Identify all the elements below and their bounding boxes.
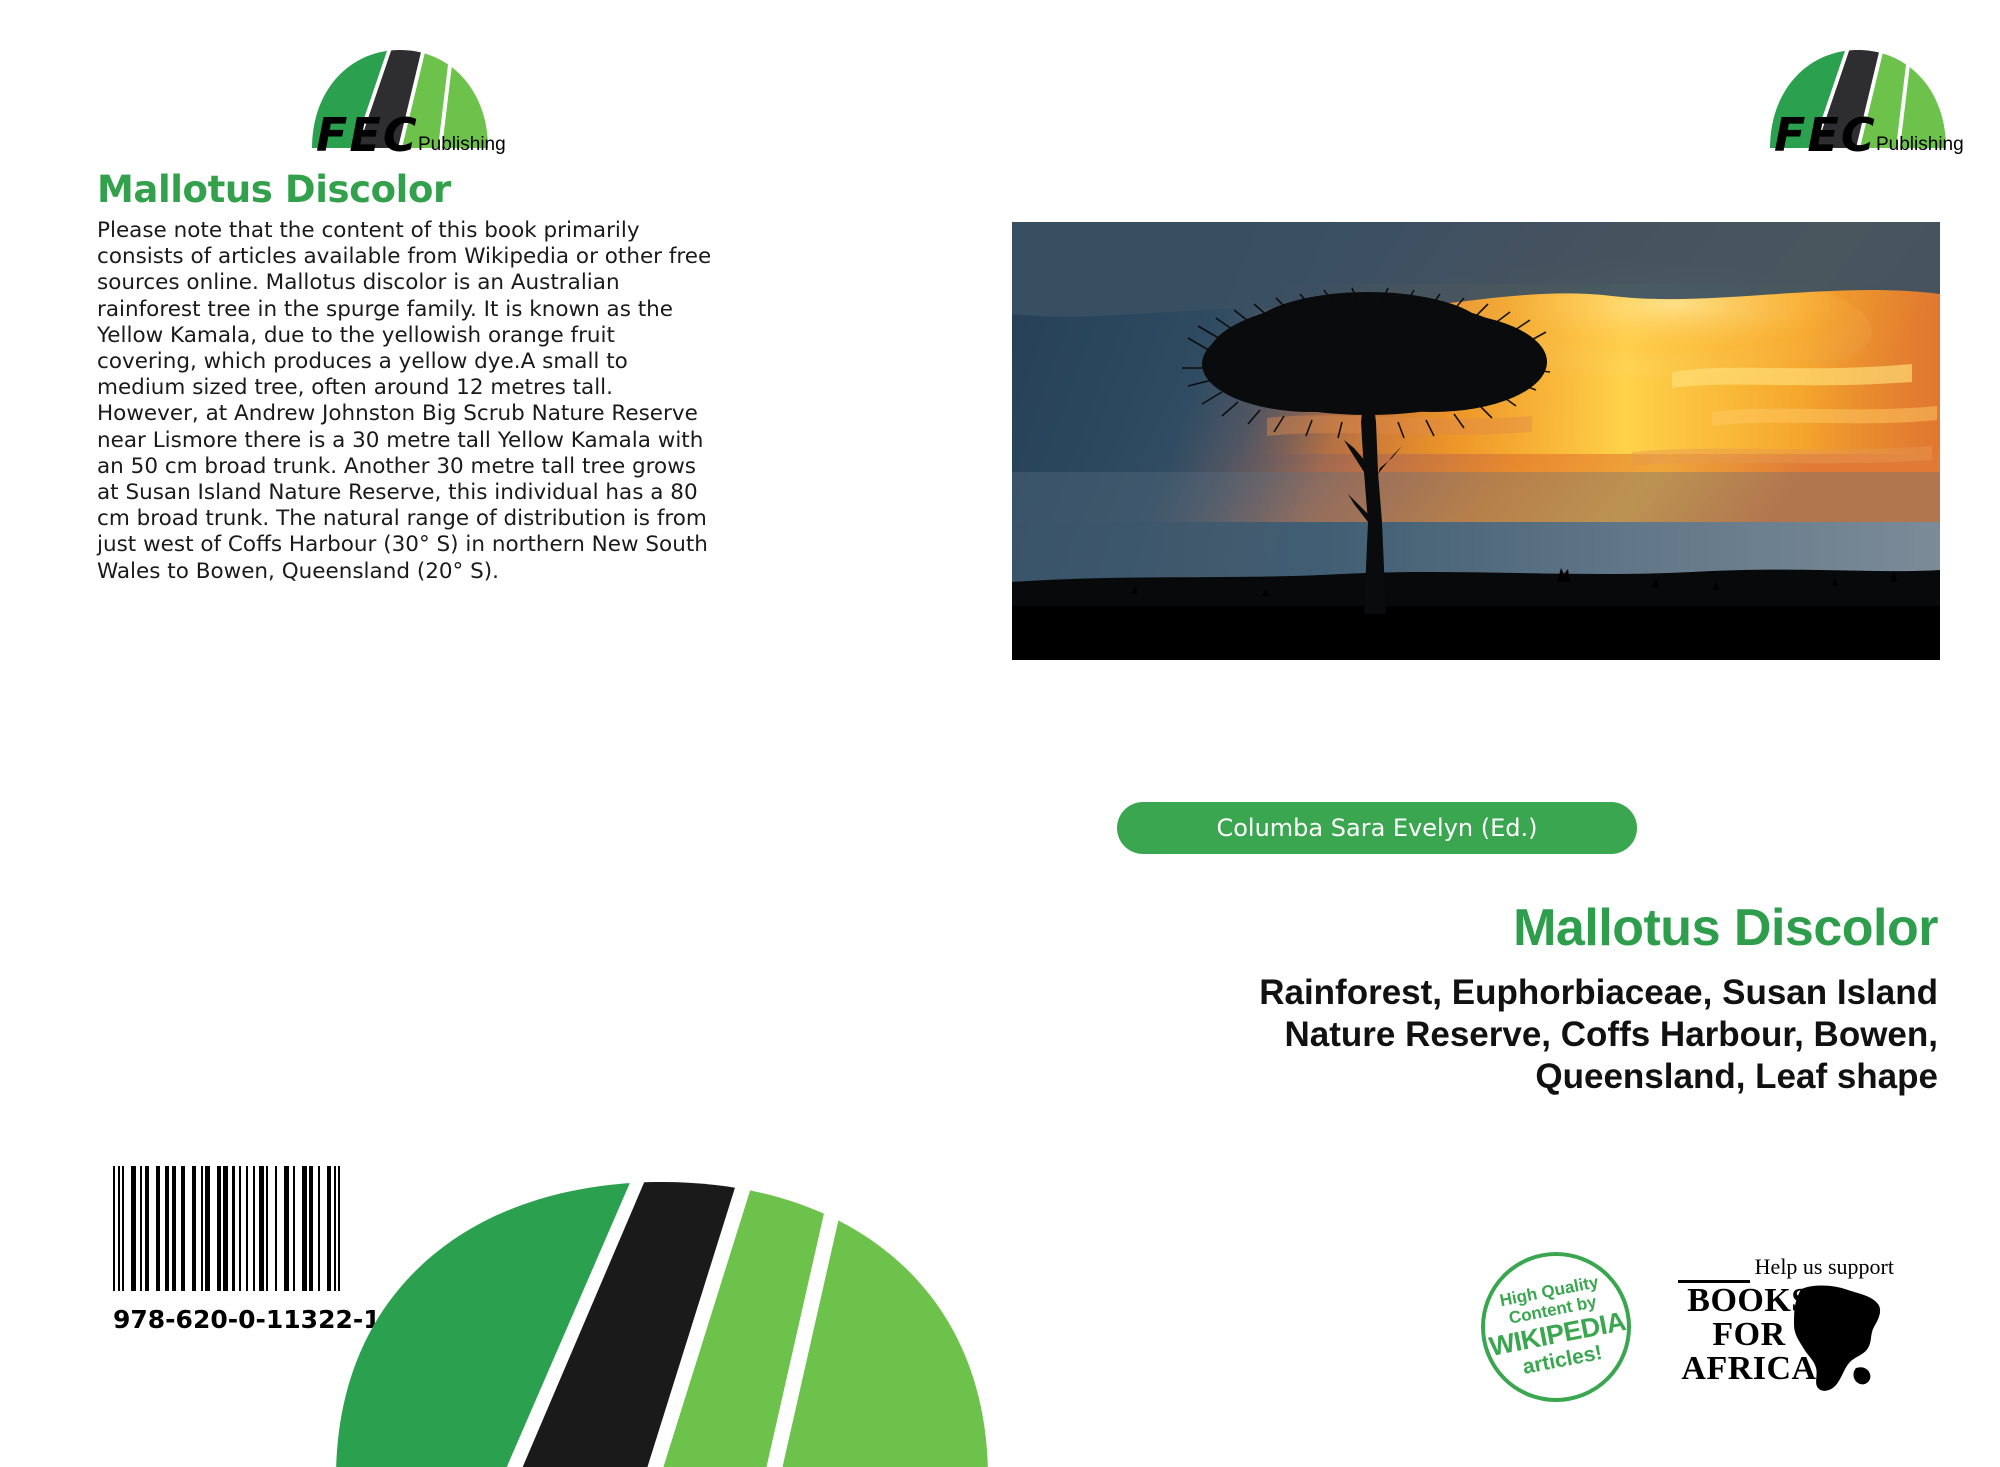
- publishing-wordmark: Publishing: [418, 135, 506, 154]
- publishing-wordmark: Publishing: [1876, 135, 1964, 154]
- fec-wordmark: FEC: [1774, 112, 1877, 158]
- isbn-number: 978-620-0-11322-1: [113, 1305, 341, 1334]
- author-name: Columba Sara Evelyn (Ed.): [1216, 814, 1537, 842]
- front-cover-title: Mallotus Discolor: [1038, 898, 1938, 958]
- bfa-help-text: Help us support: [1755, 1254, 1894, 1280]
- author-banner: Columba Sara Evelyn (Ed.): [1117, 802, 1637, 854]
- back-cover-description: Please note that the content of this boo…: [97, 218, 717, 585]
- books-for-africa-logo: Help us support BOOKS FOR AFRICA: [1674, 1254, 1894, 1394]
- subtitle-line: Nature Reserve, Coffs Harbour, Bowen,: [1038, 1014, 1938, 1056]
- wikipedia-seal-text: High Quality Content by WIKIPEDIA articl…: [1481, 1267, 1631, 1388]
- decorative-fan-graphic: [332, 1178, 992, 1467]
- back-cover-title: Mallotus Discolor: [97, 168, 451, 211]
- publisher-logo-front: FEC Publishing: [1768, 48, 1948, 158]
- isbn-barcode: [113, 1166, 341, 1291]
- isbn-barcode-block: 978-620-0-11322-1: [113, 1166, 341, 1334]
- subtitle-line: Queensland, Leaf shape: [1038, 1056, 1938, 1098]
- book-cover: FEC Publishing FEC Publishing Mallotus D…: [0, 0, 2000, 1467]
- subtitle-line: Rainforest, Euphorbiaceae, Susan Island: [1038, 972, 1938, 1014]
- africa-continent-icon: [1786, 1282, 1891, 1394]
- fec-wordmark: FEC: [316, 112, 419, 158]
- front-cover-subtitle: Rainforest, Euphorbiaceae, Susan Island …: [1038, 972, 1938, 1098]
- publisher-logo-back: FEC Publishing: [310, 48, 490, 158]
- cover-photo-acacia-sunset: [1012, 222, 1940, 660]
- wikipedia-quality-seal: High Quality Content by WIKIPEDIA articl…: [1481, 1252, 1631, 1402]
